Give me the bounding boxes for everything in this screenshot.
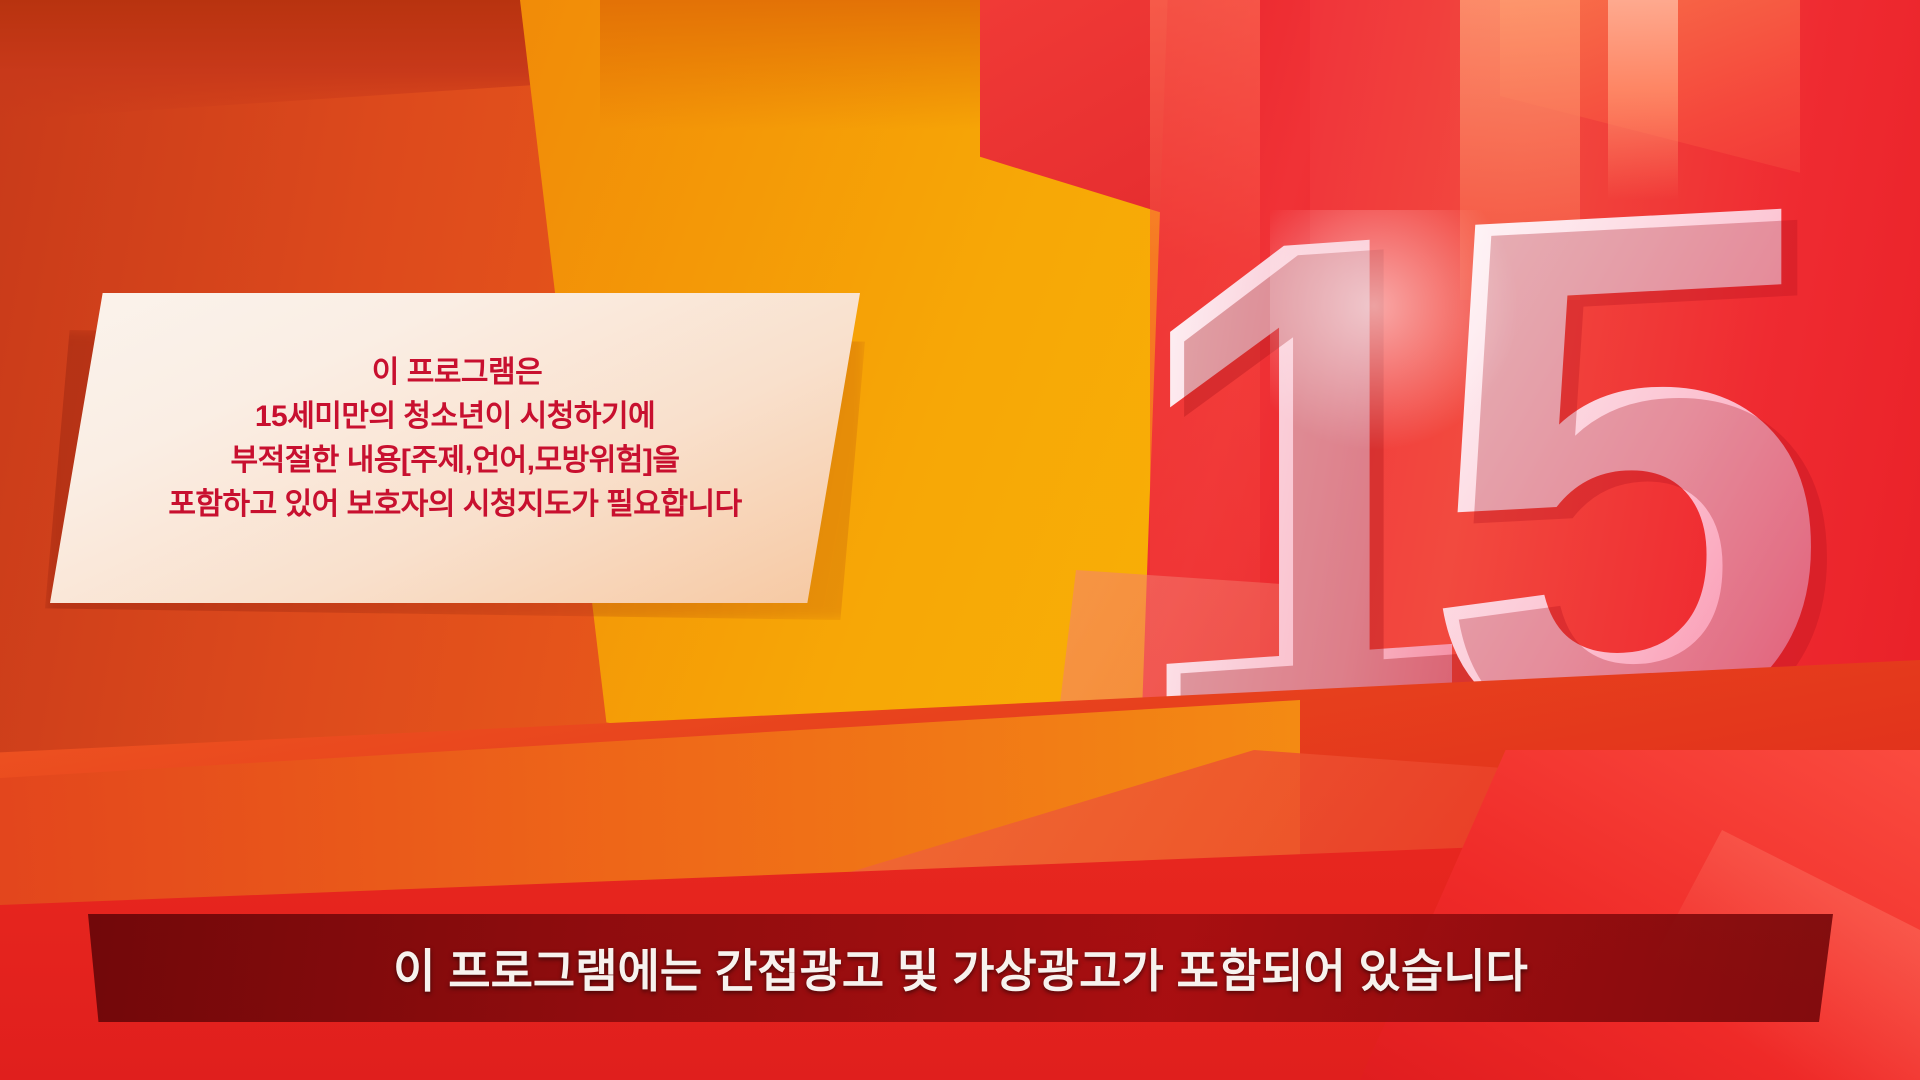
- rating-notice-line-2: 15세미만의 청소년이 시청하기에: [50, 395, 860, 439]
- subtitle-text: 이 프로그램에는 간접광고 및 가상광고가 포함되어 있습니다: [88, 914, 1833, 1022]
- rating-notice-line-3: 부적절한 내용[주제,언어,모방위험]을: [50, 439, 860, 483]
- rating-notice-line-4: 포함하고 있어 보호자의 시청지도가 필요합니다: [50, 483, 860, 527]
- rating-notice-line-1: 이 프로그램은: [50, 351, 860, 395]
- broadcast-rating-overlay-screen: 1 5 이 프로그램은 15세미만의 청소년이 시청하기에 부적절한 내용[주제…: [0, 0, 1920, 1080]
- subtitle-bar: 이 프로그램에는 간접광고 및 가상광고가 포함되어 있습니다: [88, 914, 1833, 1022]
- rating-notice-panel: 이 프로그램은 15세미만의 청소년이 시청하기에 부적절한 내용[주제,언어,…: [50, 293, 860, 603]
- rating-notice-text-block: 이 프로그램은 15세미만의 청소년이 시청하기에 부적절한 내용[주제,언어,…: [50, 293, 860, 603]
